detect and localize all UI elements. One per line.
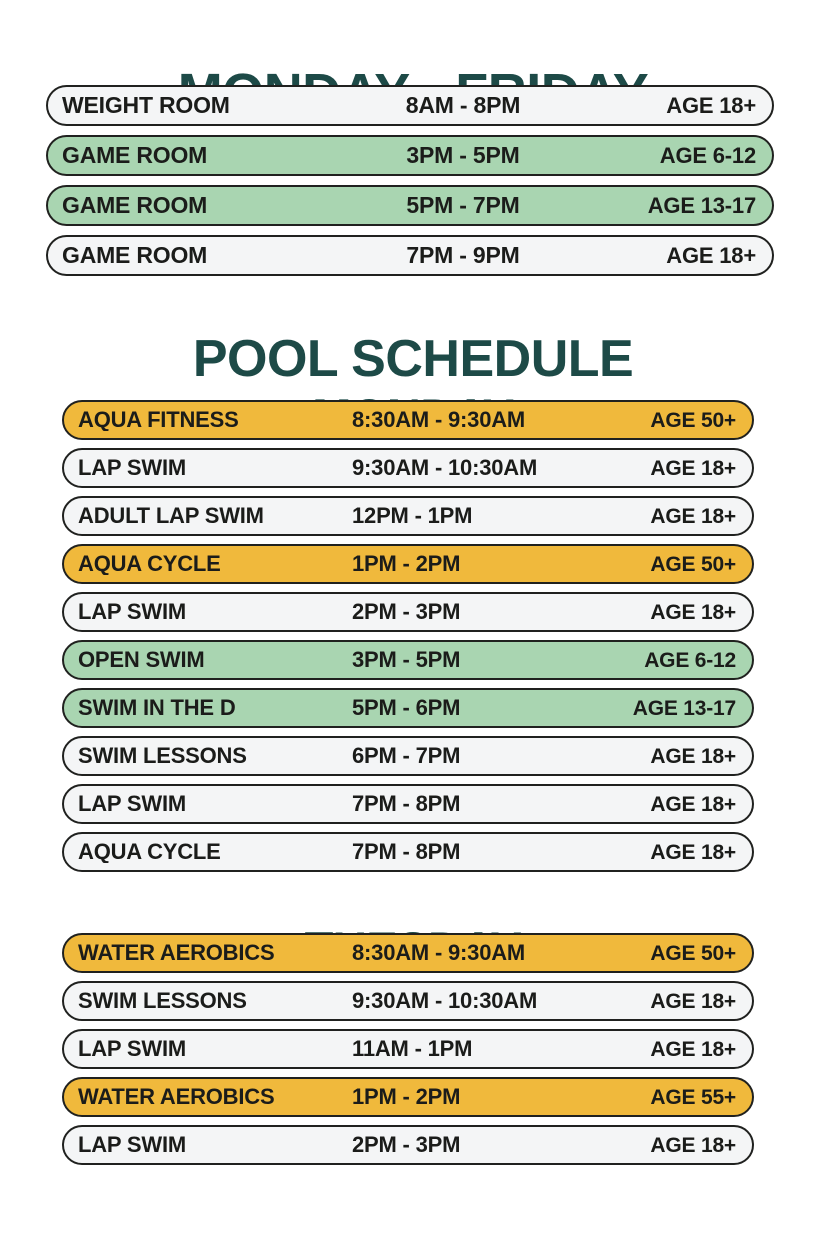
activity-age-range: AGE 13-17 xyxy=(604,698,736,719)
activity-age-range: AGE 18+ xyxy=(604,458,736,479)
activity-time: 7PM - 9PM xyxy=(342,244,606,267)
activity-age-range: AGE 18+ xyxy=(606,245,756,267)
schedule-row: LAP SWIM11AM - 1PMAGE 18+ xyxy=(62,1029,754,1069)
activity-time: 3PM - 5PM xyxy=(342,144,606,167)
activity-name: GAME ROOM xyxy=(62,144,342,167)
activity-time: 1PM - 2PM xyxy=(346,1086,604,1108)
activity-name: GAME ROOM xyxy=(62,244,342,267)
schedule-row: LAP SWIM7PM - 8PMAGE 18+ xyxy=(62,784,754,824)
activity-time: 2PM - 3PM xyxy=(346,601,604,623)
activity-time: 7PM - 8PM xyxy=(346,841,604,863)
activity-name: LAP SWIM xyxy=(78,457,346,479)
activity-age-range: AGE 18+ xyxy=(604,1135,736,1156)
activity-name: SWIM IN THE D xyxy=(78,697,346,719)
activity-age-range: AGE 50+ xyxy=(604,943,736,964)
schedule-row: GAME ROOM3PM - 5PMAGE 6-12 xyxy=(46,135,774,176)
schedule-row: AQUA CYCLE7PM - 8PMAGE 18+ xyxy=(62,832,754,872)
activity-time: 2PM - 3PM xyxy=(346,1134,604,1156)
activity-age-range: AGE 50+ xyxy=(604,410,736,431)
schedule-row: AQUA CYCLE1PM - 2PMAGE 50+ xyxy=(62,544,754,584)
activity-name: OPEN SWIM xyxy=(78,649,346,671)
activity-age-range: AGE 50+ xyxy=(604,554,736,575)
activity-age-range: AGE 18+ xyxy=(604,842,736,863)
schedule-poster: MONDAY - FRIDAY WEIGHT ROOM8AM - 8PMAGE … xyxy=(0,0,826,1242)
schedule-row: OPEN SWIM3PM - 5PMAGE 6-12 xyxy=(62,640,754,680)
activity-time: 5PM - 6PM xyxy=(346,697,604,719)
activity-name: LAP SWIM xyxy=(78,1038,346,1060)
activity-time: 6PM - 7PM xyxy=(346,745,604,767)
activity-time: 11AM - 1PM xyxy=(346,1038,604,1060)
activity-age-range: AGE 18+ xyxy=(604,746,736,767)
activity-age-range: AGE 18+ xyxy=(604,506,736,527)
activity-name: AQUA CYCLE xyxy=(78,553,346,575)
activity-time: 8AM - 8PM xyxy=(342,94,606,117)
activity-age-range: AGE 18+ xyxy=(604,794,736,815)
activity-name: WATER AEROBICS xyxy=(78,942,346,964)
activity-time: 8:30AM - 9:30AM xyxy=(346,409,604,431)
weekday-schedule-table: WEIGHT ROOM8AM - 8PMAGE 18+GAME ROOM3PM … xyxy=(46,85,774,276)
activity-age-range: AGE 18+ xyxy=(604,991,736,1012)
schedule-row: ADULT LAP SWIM12PM - 1PMAGE 18+ xyxy=(62,496,754,536)
activity-age-range: AGE 13-17 xyxy=(606,195,756,217)
activity-name: WATER AEROBICS xyxy=(78,1086,346,1108)
activity-age-range: AGE 18+ xyxy=(604,1039,736,1060)
activity-time: 9:30AM - 10:30AM xyxy=(346,457,604,479)
schedule-row: WATER AEROBICS8:30AM - 9:30AMAGE 50+ xyxy=(62,933,754,973)
activity-name: SWIM LESSONS xyxy=(78,990,346,1012)
activity-name: AQUA FITNESS xyxy=(78,409,346,431)
activity-name: WEIGHT ROOM xyxy=(62,94,342,117)
activity-age-range: AGE 55+ xyxy=(604,1087,736,1108)
activity-name: ADULT LAP SWIM xyxy=(78,505,346,527)
activity-time: 9:30AM - 10:30AM xyxy=(346,990,604,1012)
schedule-row: GAME ROOM5PM - 7PMAGE 13-17 xyxy=(46,185,774,226)
activity-time: 7PM - 8PM xyxy=(346,793,604,815)
activity-age-range: AGE 6-12 xyxy=(604,650,736,671)
monday-pool-schedule-table: AQUA FITNESS8:30AM - 9:30AMAGE 50+LAP SW… xyxy=(62,400,754,872)
schedule-row: LAP SWIM2PM - 3PMAGE 18+ xyxy=(62,1125,754,1165)
activity-age-range: AGE 18+ xyxy=(604,602,736,623)
activity-age-range: AGE 6-12 xyxy=(606,145,756,167)
activity-time: 8:30AM - 9:30AM xyxy=(346,942,604,964)
schedule-row: LAP SWIM9:30AM - 10:30AMAGE 18+ xyxy=(62,448,754,488)
schedule-row: LAP SWIM2PM - 3PMAGE 18+ xyxy=(62,592,754,632)
activity-name: GAME ROOM xyxy=(62,194,342,217)
schedule-row: SWIM LESSONS6PM - 7PMAGE 18+ xyxy=(62,736,754,776)
tuesday-pool-schedule-table: WATER AEROBICS8:30AM - 9:30AMAGE 50+SWIM… xyxy=(62,933,754,1165)
schedule-row: WEIGHT ROOM8AM - 8PMAGE 18+ xyxy=(46,85,774,126)
activity-name: SWIM LESSONS xyxy=(78,745,346,767)
activity-time: 12PM - 1PM xyxy=(346,505,604,527)
activity-name: LAP SWIM xyxy=(78,1134,346,1156)
activity-age-range: AGE 18+ xyxy=(606,95,756,117)
schedule-row: SWIM IN THE D5PM - 6PMAGE 13-17 xyxy=(62,688,754,728)
schedule-row: AQUA FITNESS8:30AM - 9:30AMAGE 50+ xyxy=(62,400,754,440)
schedule-row: GAME ROOM7PM - 9PMAGE 18+ xyxy=(46,235,774,276)
activity-name: LAP SWIM xyxy=(78,601,346,623)
schedule-row: WATER AEROBICS1PM - 2PMAGE 55+ xyxy=(62,1077,754,1117)
activity-name: LAP SWIM xyxy=(78,793,346,815)
activity-time: 1PM - 2PM xyxy=(346,553,604,575)
activity-time: 5PM - 7PM xyxy=(342,194,606,217)
pool-schedule-heading: POOL SCHEDULE xyxy=(0,333,826,385)
schedule-row: SWIM LESSONS9:30AM - 10:30AMAGE 18+ xyxy=(62,981,754,1021)
activity-name: AQUA CYCLE xyxy=(78,841,346,863)
activity-time: 3PM - 5PM xyxy=(346,649,604,671)
